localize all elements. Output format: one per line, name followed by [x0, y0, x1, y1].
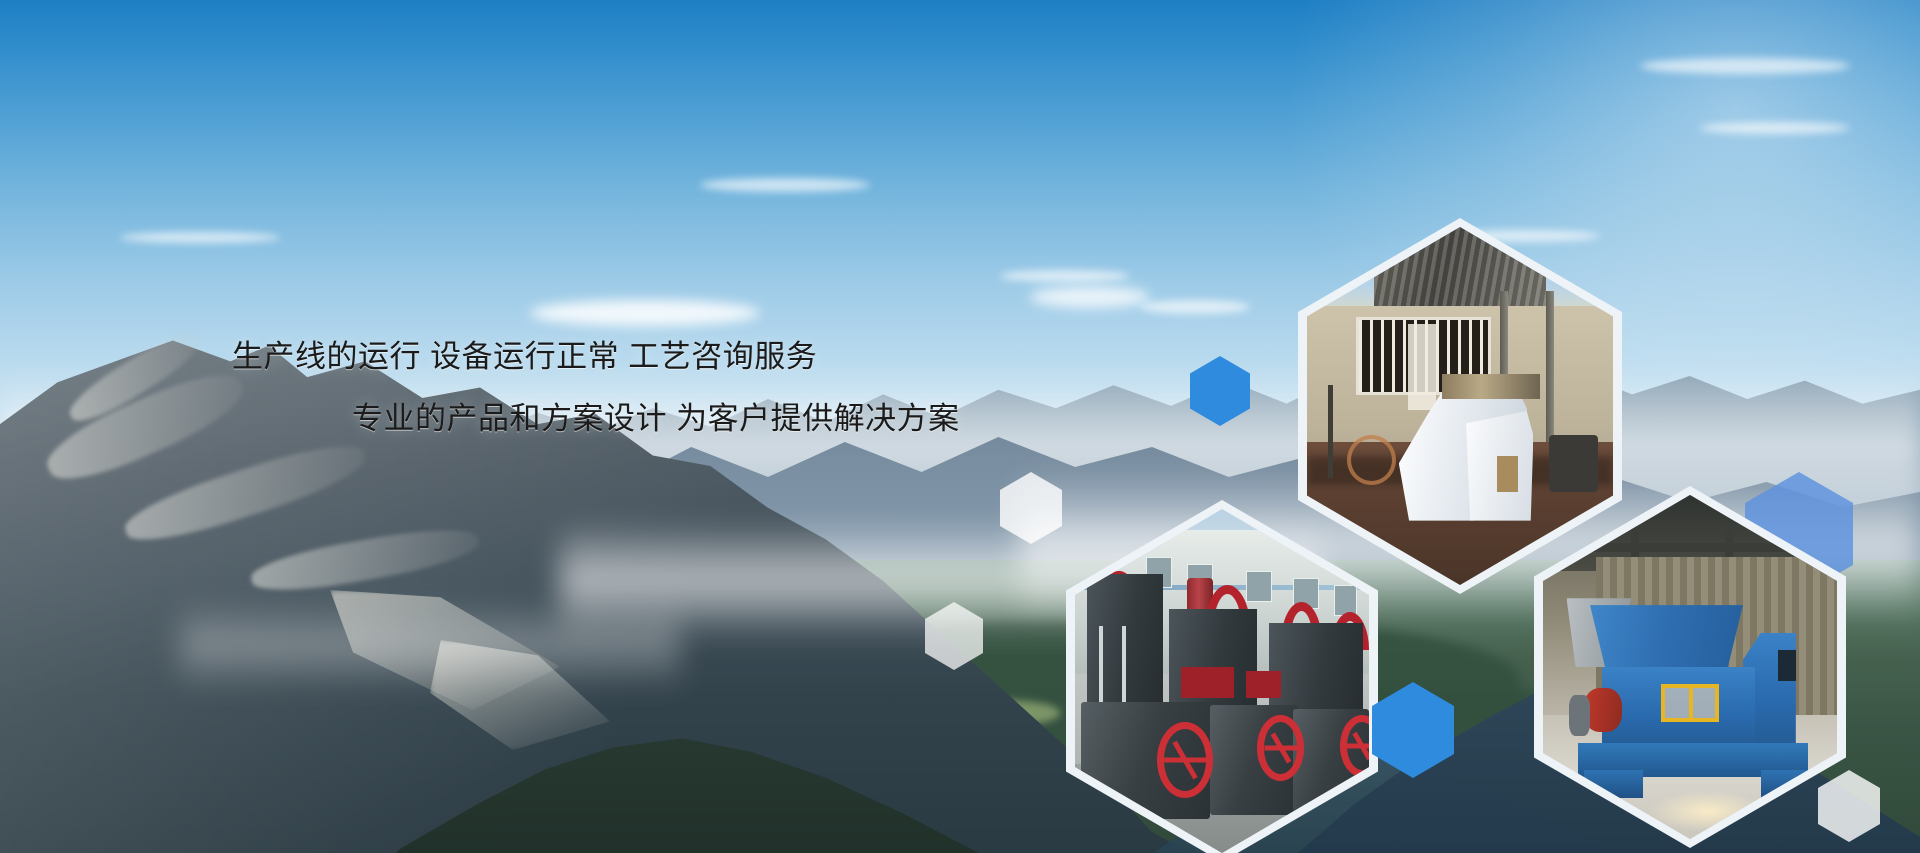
- hex-photo-shredder[interactable]: [1534, 486, 1846, 848]
- red-panel-1: [1181, 667, 1234, 698]
- window-bright-panel: [1408, 324, 1436, 410]
- ladle-gearbox: [1497, 456, 1518, 492]
- tail-inspection-port: [1778, 650, 1796, 681]
- cloud-8: [120, 232, 280, 243]
- cloud-6: [1030, 286, 1150, 308]
- cloud-5: [1000, 270, 1130, 282]
- headline-line-1: 生产线的运行 设备运行正常 工艺咨询服务: [232, 326, 1132, 388]
- cloud-4: [1700, 122, 1850, 134]
- factory-window-3: [1246, 571, 1272, 602]
- cloud-3: [1640, 58, 1850, 74]
- red-handwheel-1: [1157, 722, 1213, 798]
- yellow-guard-rail: [1661, 684, 1720, 722]
- roof-beam-1: [1572, 543, 1807, 552]
- ladle-flange: [1442, 374, 1540, 399]
- dark-drum: [1549, 435, 1598, 492]
- cloud-7: [1140, 300, 1250, 314]
- signpost: [1328, 385, 1333, 478]
- red-handwheel-2: [1257, 715, 1304, 780]
- cloud-1: [530, 300, 760, 326]
- headline-line-2: 专业的产品和方案设计 为客户提供解决方案: [232, 388, 1132, 450]
- coiled-hose: [1347, 435, 1396, 485]
- banner-root: 生产线的运行 设备运行正常 工艺咨询服务 专业的产品和方案设计 为客户提供解决方…: [0, 0, 1920, 853]
- press-frame-right: [1269, 623, 1363, 716]
- drive-pulley: [1569, 695, 1590, 736]
- cloud-2: [700, 178, 870, 192]
- headline-block: 生产线的运行 设备运行正常 工艺咨询服务 专业的产品和方案设计 为客户提供解决方…: [232, 326, 1132, 450]
- red-panel-2: [1246, 671, 1281, 699]
